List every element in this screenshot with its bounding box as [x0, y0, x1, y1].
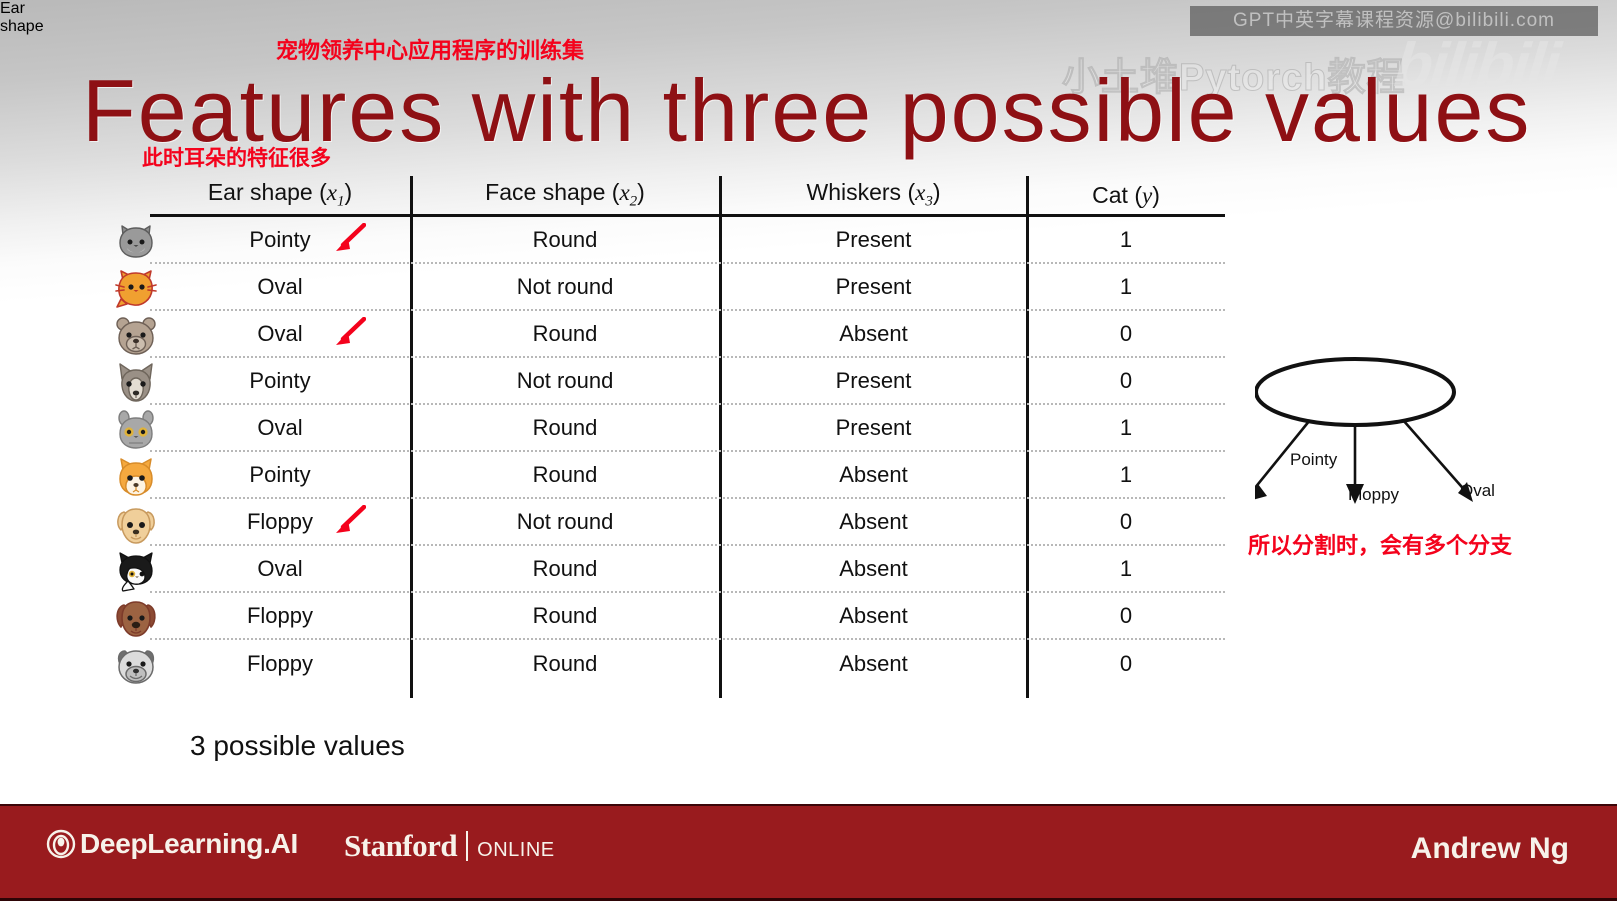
cell-whiskers: Present: [720, 368, 1027, 394]
cell-face-shape: Round: [410, 556, 720, 582]
slide-caption: 3 possible values: [190, 730, 405, 762]
table-row: OvalRoundAbsent0: [150, 311, 1225, 358]
cell-cat-label: 0: [1027, 509, 1225, 535]
cell-ear-shape: Pointy: [150, 368, 410, 394]
brown-dog-icon: [108, 594, 164, 641]
cell-whiskers: Present: [720, 415, 1027, 441]
cell-whiskers: Present: [720, 274, 1027, 300]
cell-face-shape: Round: [410, 227, 720, 253]
header-label: Face shape: [485, 179, 605, 205]
row-arrow-marker: [332, 223, 366, 253]
author-name: Andrew Ng: [1411, 832, 1569, 866]
gray-bulldog-icon: [108, 641, 164, 688]
cell-face-shape: Round: [410, 603, 720, 629]
cell-face-shape: Not round: [410, 274, 720, 300]
header-variable: (x1): [319, 179, 352, 205]
table-row: OvalRoundPresent1: [150, 405, 1225, 452]
column-header-ear-shape: Ear shape (x1): [150, 179, 410, 211]
tan-dog-icon: [108, 500, 164, 547]
table-row: PointyRoundPresent1: [150, 217, 1225, 264]
cell-cat-label: 0: [1027, 368, 1225, 394]
cell-whiskers: Absent: [720, 321, 1027, 347]
slide-footer: DeepLearning.AI Stanford ONLINE Andrew N…: [0, 804, 1617, 901]
cell-ear-shape: Floppy: [150, 651, 410, 677]
cell-face-shape: Round: [410, 651, 720, 677]
header-variable: (x2): [612, 179, 645, 205]
cell-cat-label: 1: [1027, 415, 1225, 441]
header-label: Cat: [1092, 182, 1128, 208]
cell-whiskers: Absent: [720, 651, 1027, 677]
cell-ear-shape: Pointy: [150, 227, 410, 253]
row-arrow-marker: [332, 505, 366, 535]
slide-canvas: GPT中英字幕课程资源@bilibili.com 小土堆Pytorch教程 bi…: [0, 0, 1617, 901]
header-variable: (x3): [907, 179, 940, 205]
cell-ear-shape: Pointy: [150, 462, 410, 488]
brown-bear-icon: [108, 312, 164, 359]
table-row: OvalRoundAbsent1: [150, 546, 1225, 593]
cell-cat-label: 0: [1027, 603, 1225, 629]
cell-face-shape: Round: [410, 415, 720, 441]
cell-cat-label: 0: [1027, 321, 1225, 347]
cell-face-shape: Round: [410, 462, 720, 488]
ear-shape-node-ellipse: [1256, 359, 1454, 425]
animal-icon-column: [108, 218, 164, 688]
cell-face-shape: Not round: [410, 368, 720, 394]
cell-ear-shape: Oval: [150, 415, 410, 441]
table-row: PointyRoundAbsent1: [150, 452, 1225, 499]
tuxedo-cat-icon: [108, 547, 164, 594]
red-pointer-arrow: [332, 317, 366, 347]
header-label: Ear shape: [208, 179, 313, 205]
cell-cat-label: 1: [1027, 227, 1225, 253]
deeplearning-ai-logo: DeepLearning.AI: [46, 828, 298, 860]
red-pointer-arrow: [332, 505, 366, 535]
red-pointer-arrow: [332, 223, 366, 253]
row-arrow-marker: [332, 317, 366, 347]
cell-face-shape: Not round: [410, 509, 720, 535]
stanford-divider: [466, 831, 468, 861]
cell-cat-label: 1: [1027, 556, 1225, 582]
column-header-cat: Cat (y): [1027, 182, 1225, 209]
cell-ear-shape: Oval: [150, 274, 410, 300]
orange-fox-icon: [108, 453, 164, 500]
cell-whiskers: Absent: [720, 509, 1027, 535]
orange-cat-icon: [108, 265, 164, 312]
cell-whiskers: Absent: [720, 462, 1027, 488]
cell-whiskers: Absent: [720, 603, 1027, 629]
table-row: FloppyRoundAbsent0: [150, 593, 1225, 640]
branch-label-pointy: Pointy: [1290, 450, 1337, 470]
gray-cat-icon: [108, 218, 164, 265]
cell-ear-shape: Floppy: [150, 509, 410, 535]
cell-ear-shape: Floppy: [150, 603, 410, 629]
gray-wolf-icon: [108, 359, 164, 406]
cell-ear-shape: Oval: [150, 321, 410, 347]
header-variable: (y): [1134, 182, 1160, 208]
gray-rabbit-icon: [108, 406, 164, 453]
table-row: FloppyRoundAbsent0: [150, 640, 1225, 687]
branch-arrows: [1255, 420, 1468, 494]
cell-whiskers: Absent: [720, 556, 1027, 582]
column-header-whiskers: Whiskers (x3): [720, 179, 1027, 211]
deeplearning-spiral-icon: [46, 829, 76, 859]
column-header-face-shape: Face shape (x2): [410, 179, 720, 211]
cell-cat-label: 0: [1027, 651, 1225, 677]
online-text: ONLINE: [477, 839, 554, 862]
deeplearning-ai-text: DeepLearning.AI: [80, 828, 298, 860]
header-label: Whiskers: [806, 179, 901, 205]
stanford-online-logo: Stanford ONLINE: [344, 828, 555, 864]
table-row: OvalNot roundPresent1: [150, 264, 1225, 311]
cell-face-shape: Round: [410, 321, 720, 347]
table-row: FloppyNot roundAbsent0: [150, 499, 1225, 546]
cell-cat-label: 1: [1027, 462, 1225, 488]
cell-ear-shape: Oval: [150, 556, 410, 582]
branch-label-oval: Oval: [1460, 481, 1495, 501]
ear-shape-split-diagram: [1255, 352, 1605, 532]
table-body: PointyRoundPresent1 OvalNot roundPresent…: [150, 217, 1225, 687]
table-row: PointyNot roundPresent0: [150, 358, 1225, 405]
cell-whiskers: Present: [720, 227, 1027, 253]
branch-label-floppy: Floppy: [1348, 485, 1399, 505]
table-header-row: Ear shape (x1) Face shape (x2) Whiskers …: [150, 176, 1225, 217]
cell-cat-label: 1: [1027, 274, 1225, 300]
stanford-text: Stanford: [344, 828, 457, 864]
